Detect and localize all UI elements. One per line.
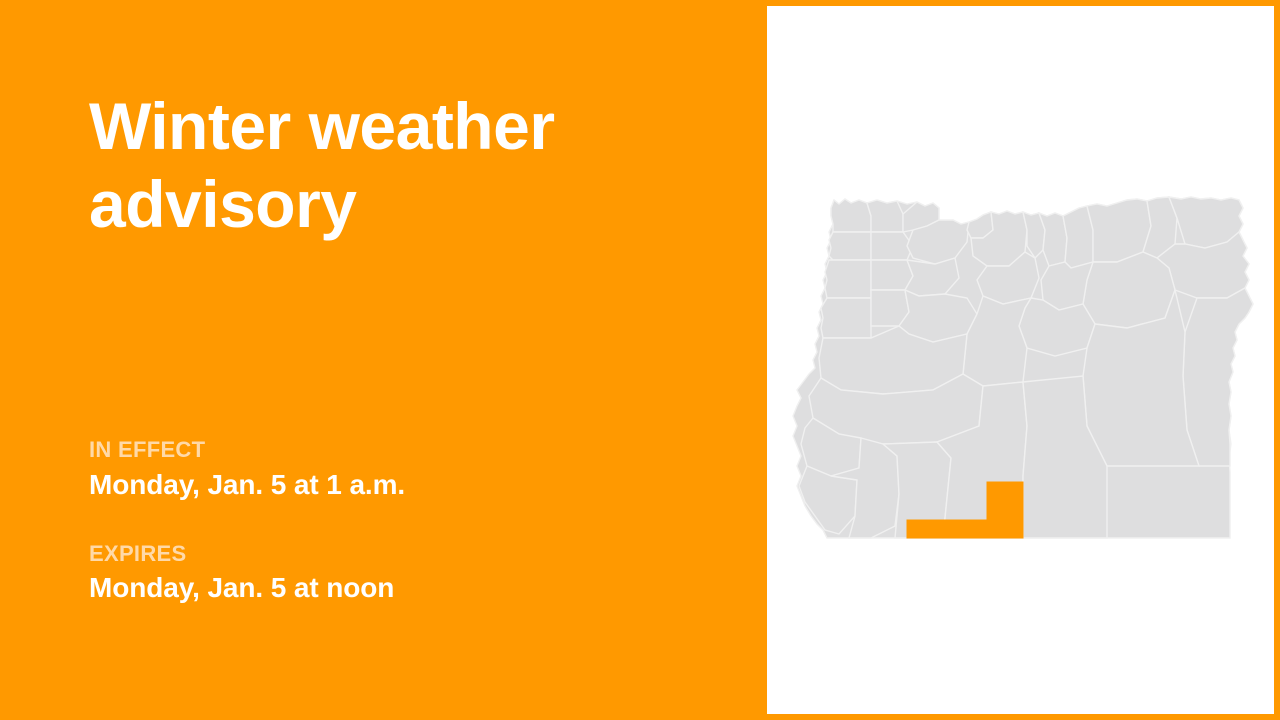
county-clatsop (831, 199, 871, 232)
county-tillamook (825, 260, 871, 298)
page-title: Winter weather advisory (89, 88, 689, 244)
alert-text-panel: Winter weather advisory IN EFFECT Monday… (0, 0, 767, 720)
alert-timing-block: IN EFFECT Monday, Jan. 5 at 1 a.m. EXPIR… (89, 436, 709, 605)
county-malheur (1183, 288, 1253, 466)
county-morrow (1063, 206, 1093, 268)
oregon-state-map (787, 186, 1257, 546)
map-panel (767, 0, 1280, 720)
in-effect-value: Monday, Jan. 5 at 1 a.m. (89, 467, 709, 502)
in-effect-group: IN EFFECT Monday, Jan. 5 at 1 a.m. (89, 436, 709, 502)
page-title-line-2: advisory (89, 167, 356, 241)
county-grant (1083, 252, 1175, 328)
expires-group: EXPIRES Monday, Jan. 5 at noon (89, 540, 709, 606)
county-columbia (867, 200, 903, 232)
expires-label: EXPIRES (89, 540, 709, 568)
county-lincoln (821, 298, 871, 338)
county-polk (871, 260, 913, 290)
in-effect-label: IN EFFECT (89, 436, 709, 464)
expires-value: Monday, Jan. 5 at noon (89, 570, 709, 605)
page-title-line-1: Winter weather (89, 89, 555, 163)
county-washington (829, 232, 871, 260)
map-holder (767, 6, 1274, 714)
winter-weather-advisory-graphic: Winter weather advisory IN EFFECT Monday… (0, 0, 1280, 720)
